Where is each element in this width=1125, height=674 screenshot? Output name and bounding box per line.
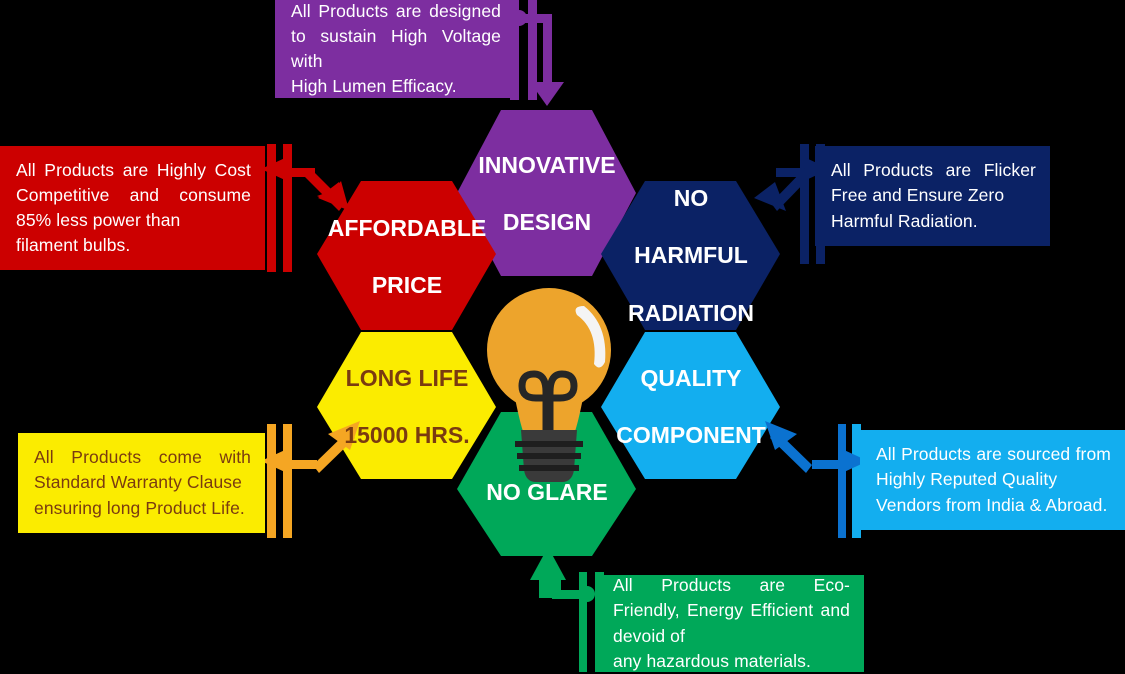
callout-text-last: Vendors from India & Abroad.: [876, 493, 1111, 518]
connector-quality-component: [765, 421, 868, 538]
callout-text: All Products are sourced from Highly Rep…: [876, 444, 1111, 489]
callout-text: All Products are Flicker Free and Ensure…: [831, 160, 1036, 205]
callout-text-last: filament bulbs.: [16, 233, 251, 258]
connector-innovative-design: [510, 0, 564, 106]
connector-no-glare: [530, 547, 604, 672]
callout-innovative-design[interactable]: All Products are designed to sustain Hig…: [275, 0, 515, 98]
callout-text: All Products are Eco- Friendly, Energy E…: [613, 575, 850, 645]
callout-text-last: ensuring long Product Life.: [34, 496, 251, 521]
callout-text-last: High Lumen Efficacy.: [291, 74, 501, 99]
infographic-canvas: INNOVATIVE DESIGN AFFORDABLE PRICE NO HA…: [0, 0, 1125, 672]
callout-text: All Products come with Standard Warranty…: [34, 447, 251, 492]
callout-no-glare[interactable]: All Products are Eco- Friendly, Energy E…: [597, 575, 864, 672]
callout-quality-component[interactable]: All Products are sourced from Highly Rep…: [860, 430, 1125, 530]
callout-text-last: Harmful Radiation.: [831, 209, 1036, 234]
hexagon-quality-component[interactable]: [601, 332, 780, 479]
callout-affordable-price[interactable]: All Products are Highly Cost Competitive…: [0, 146, 265, 270]
diagram-vector-layer: [0, 0, 1125, 672]
connector-long-life: [261, 421, 360, 538]
hexagon-long-life[interactable]: [317, 332, 496, 479]
callout-text-last: any hazardous materials.: [613, 649, 850, 674]
callout-long-life[interactable]: All Products come with Standard Warranty…: [18, 433, 265, 533]
callout-no-harmful-radiation[interactable]: All Products are Flicker Free and Ensure…: [815, 146, 1050, 246]
callout-text: All Products are designed to sustain Hig…: [291, 1, 501, 71]
callout-text: All Products are Highly Cost Competitive…: [16, 160, 251, 230]
